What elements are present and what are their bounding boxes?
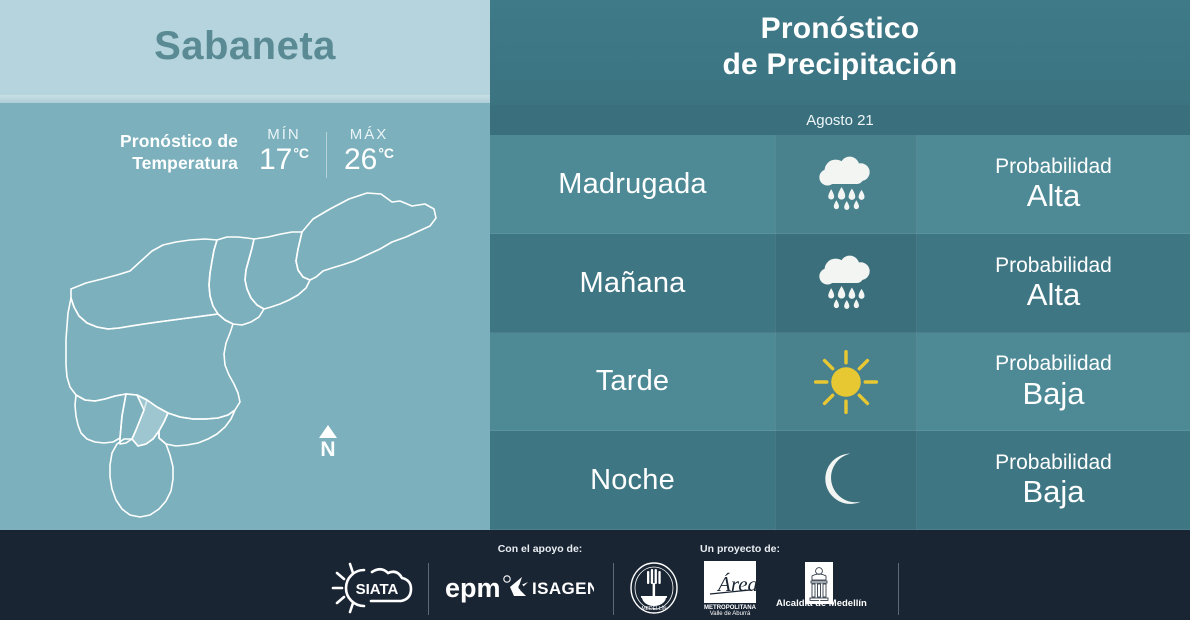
footer: Con el apoyo de: Un proyecto de: SIA [0,530,1190,620]
area-metropolitana-logo[interactable]: Área METROPOLITANA Valle de Aburrá [700,561,764,615]
precipitation-title: Pronóstico de Precipitación [490,11,1190,82]
footer-divider-1 [428,563,429,615]
probability-cell: Probabilidad Alta [917,234,1190,333]
page-title: Sabaneta [0,24,490,69]
table-row: Mañana [490,234,1190,333]
moon-icon [809,444,883,518]
universidad-seal-text: MEDELLÍN [641,605,666,612]
probability-label: Probabilidad [995,156,1112,178]
temperature-label: Pronóstico de Temperatura [70,130,238,175]
rain-cloud-icon [809,147,883,221]
footer-captions: Con el apoyo de: Un proyecto de: [0,543,1190,557]
support-caption: Con el apoyo de: [425,543,655,555]
compass-north-label: N [308,439,348,460]
weather-icon-cell [775,333,917,432]
probability-cell: Probabilidad Baja [917,333,1190,432]
temperature-max: MÁX 26°C [339,126,399,176]
probability-value: Alta [1027,279,1080,312]
footer-logos: SIATA epm ISAGEN [0,560,1190,618]
temperature-map-section: Pronóstico de Temperatura MÍN 17°C MÁX 2… [0,103,490,530]
north-arrow-icon [319,425,337,438]
footer-divider-2 [613,563,614,615]
period-label: Madrugada [490,135,775,234]
footer-divider-3 [898,563,899,615]
infographic-root: Sabaneta Pronóstico de Temperatura MÍN 1… [0,0,1190,620]
alcaldia-label: Alcaldía de Medellín [776,598,867,609]
precipitation-title-line1: Pronóstico [761,12,920,45]
table-row: Tarde [490,333,1190,432]
isagen-logo[interactable]: ISAGEN [508,574,594,600]
temperature-divider [326,132,327,178]
temperature-min: MÍN 17°C [254,126,314,176]
probability-cell: Probabilidad Alta [917,135,1190,234]
temperature-label-line1: Pronóstico de [120,131,238,151]
period-label: Mañana [490,234,775,333]
compass-rose: N [308,425,348,460]
temperature-values: MÍN 17°C MÁX 26°C [254,126,399,178]
forecast-table: Madrugada [490,135,1190,530]
siata-logo-text: SIATA [356,581,399,598]
project-caption: Un proyecto de: [640,543,840,555]
temperature-min-unit: °C [293,145,309,161]
table-row: Madrugada [490,135,1190,234]
forecast-date: Agosto 21 [490,105,1190,135]
area-subtitle-2: Valle de Aburrá [710,611,751,615]
siata-logo[interactable]: SIATA [330,560,426,616]
probability-cell: Probabilidad Baja [917,431,1190,530]
temperature-max-caption: MÁX [339,126,399,143]
universidad-de-medellin-seal[interactable]: MEDELLÍN [628,561,680,615]
aburra-valley-map: N [40,185,460,525]
weather-icon-cell [775,135,917,234]
temperature-max-value: 26°C [339,144,399,176]
probability-label: Probabilidad [995,255,1112,277]
temperature-label-line2: Temperatura [132,153,238,173]
probability-label: Probabilidad [995,353,1112,375]
probability-value: Baja [1022,476,1084,509]
isagen-logo-text: ISAGEN [532,579,594,598]
right-panel: Pronóstico de Precipitación Agosto 21 Ma… [490,0,1190,530]
period-label: Tarde [490,333,775,432]
temperature-min-value: 17°C [254,144,314,176]
probability-value: Baja [1022,378,1084,411]
temperature-max-unit: °C [378,145,394,161]
sun-icon [809,345,883,419]
probability-value: Alta [1027,180,1080,213]
probability-label: Probabilidad [995,452,1112,474]
temperature-min-caption: MÍN [254,126,314,143]
left-panel: Sabaneta Pronóstico de Temperatura MÍN 1… [0,0,490,530]
temperature-block: Pronóstico de Temperatura MÍN 17°C MÁX 2… [70,117,430,187]
weather-icon-cell [775,431,917,530]
table-row: Noche Probabilidad Baja [490,431,1190,530]
precipitation-title-line2: de Precipitación [723,48,958,81]
period-label: Noche [490,431,775,530]
rain-cloud-icon [809,246,883,320]
epm-logo[interactable]: epm [444,571,516,605]
weather-icon-cell [775,234,917,333]
epm-logo-text: epm [445,573,501,603]
